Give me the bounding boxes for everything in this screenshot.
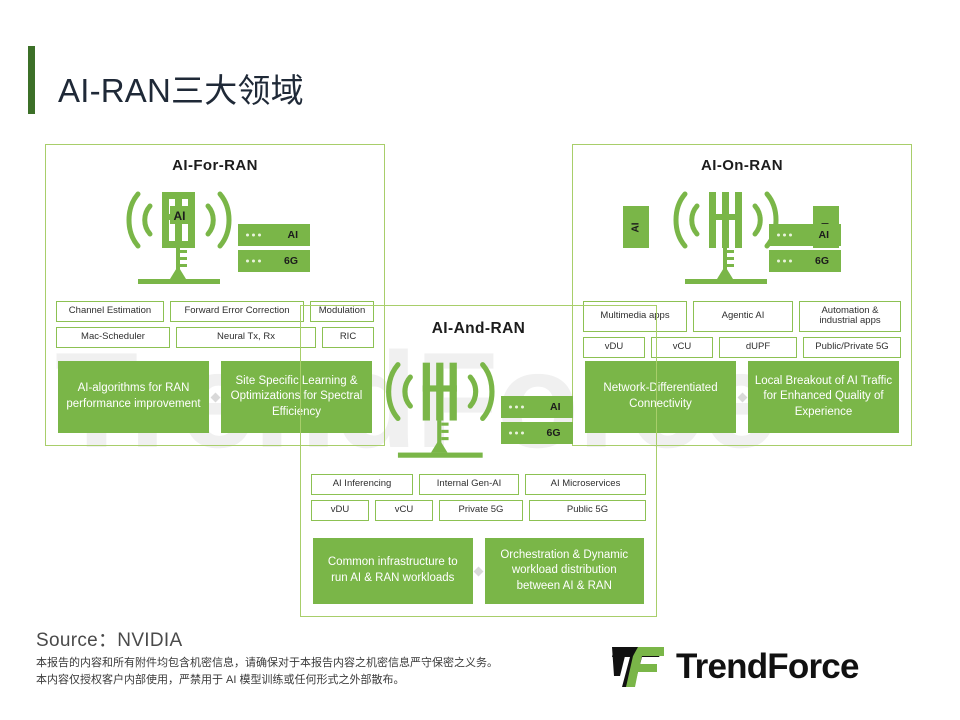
tag-item[interactable]: vCU bbox=[651, 337, 713, 358]
tag-item[interactable]: vDU bbox=[311, 500, 369, 521]
chip-label: 6G bbox=[546, 427, 560, 439]
chip-ai-right: AI bbox=[769, 224, 841, 246]
trendforce-logo-text: TrendForce bbox=[676, 647, 859, 687]
panel-title-center: AI-And-RAN bbox=[301, 320, 656, 338]
chip-dots-icon bbox=[246, 234, 261, 237]
side-badge-ai-left: AI bbox=[623, 206, 649, 248]
trendforce-logo-mark-icon bbox=[612, 645, 666, 689]
chip-6g-left: 6G bbox=[238, 250, 310, 272]
tag-item[interactable]: Neural Tx, Rx bbox=[176, 327, 316, 348]
tag-item[interactable]: vCU bbox=[375, 500, 433, 521]
tag-item[interactable]: Public/Private 5G bbox=[803, 337, 901, 358]
chip-dots-icon bbox=[777, 260, 792, 263]
chip-label: 6G bbox=[815, 255, 829, 267]
legal-notice: 本报告的内容和所有附件均包含机密信息，请确保对于本报告内容之机密信息严守保密之义… bbox=[36, 655, 498, 689]
outcome-connector-icon bbox=[473, 568, 485, 575]
outcome-connector-icon bbox=[736, 394, 748, 401]
chip-label: AI bbox=[288, 229, 299, 241]
tag-item[interactable]: Mac-Scheduler bbox=[56, 327, 170, 348]
tag-item[interactable]: Channel Estimation bbox=[56, 301, 164, 322]
chip-ai-left: AI bbox=[238, 224, 310, 246]
page-title: AI-RAN三大领域 bbox=[58, 64, 304, 112]
outcome-group-center: Common infrastructure to run AI & RAN wo… bbox=[313, 538, 644, 604]
tag-item[interactable]: AI Inferencing bbox=[311, 474, 413, 495]
slide-canvas: TrendForce AI-RAN三大领域 AI-For-RAN bbox=[0, 0, 960, 720]
chip-ai-center: AI bbox=[501, 396, 573, 418]
trendforce-logo: TrendForce bbox=[612, 645, 859, 689]
chip-label: 6G bbox=[284, 255, 298, 267]
panel-title-left: AI-For-RAN bbox=[46, 157, 384, 174]
outcome-box: Common infrastructure to run AI & RAN wo… bbox=[313, 538, 473, 604]
outcome-box: AI-algorithms for RAN performance improv… bbox=[58, 361, 209, 433]
tag-row: vDU vCU Private 5G Public 5G bbox=[311, 500, 646, 521]
tag-item[interactable]: Agentic AI bbox=[693, 301, 793, 332]
chip-dots-icon bbox=[509, 406, 524, 409]
outcome-box: Orchestration & Dynamic workload distrib… bbox=[485, 538, 645, 604]
panel-ai-and-ran: AI-And-RAN bbox=[300, 305, 657, 617]
tag-item[interactable]: Public 5G bbox=[529, 500, 646, 521]
outcome-box: Local Breakout of AI Traffic for Enhance… bbox=[748, 361, 899, 433]
legal-line-2: 本内容仅授权客户内部使用，严禁用于 AI 模型训练或任何形式之外部散布。 bbox=[36, 672, 498, 689]
tower-illustration-right: AI bbox=[573, 180, 911, 284]
legal-line-1: 本报告的内容和所有附件均包含机密信息，请确保对于本报告内容之机密信息严守保密之义… bbox=[36, 655, 498, 672]
chip-label: AI bbox=[819, 229, 830, 241]
panel-title-right: AI-On-RAN bbox=[573, 157, 911, 174]
tag-group-center: AI Inferencing Internal Gen-AI AI Micros… bbox=[311, 474, 646, 521]
tag-item[interactable]: AI Microservices bbox=[525, 474, 646, 495]
tower-center-label-left: AI bbox=[174, 209, 186, 223]
tag-item[interactable]: Forward Error Correction bbox=[170, 301, 304, 322]
outcome-connector-icon bbox=[209, 394, 221, 401]
chip-label: AI bbox=[550, 401, 561, 413]
tag-row: AI Inferencing Internal Gen-AI AI Micros… bbox=[311, 474, 646, 495]
tag-item[interactable]: Internal Gen-AI bbox=[419, 474, 519, 495]
title-accent-bar bbox=[28, 46, 35, 114]
chip-dots-icon bbox=[246, 260, 261, 263]
tag-item[interactable]: Automation & industrial apps bbox=[799, 301, 901, 332]
source-label: Source：NVIDIA bbox=[36, 625, 182, 652]
chip-dots-icon bbox=[777, 234, 792, 237]
tower-illustration-left: AI AI 6G bbox=[46, 180, 384, 284]
chip-6g-right: 6G bbox=[769, 250, 841, 272]
tag-item[interactable]: Private 5G bbox=[439, 500, 523, 521]
tag-item[interactable]: dUPF bbox=[719, 337, 797, 358]
chip-6g-center: 6G bbox=[501, 422, 573, 444]
side-badge-label: AI bbox=[631, 222, 642, 232]
chip-dots-icon bbox=[509, 432, 524, 435]
tower-illustration-center: AI 6G bbox=[301, 346, 656, 458]
